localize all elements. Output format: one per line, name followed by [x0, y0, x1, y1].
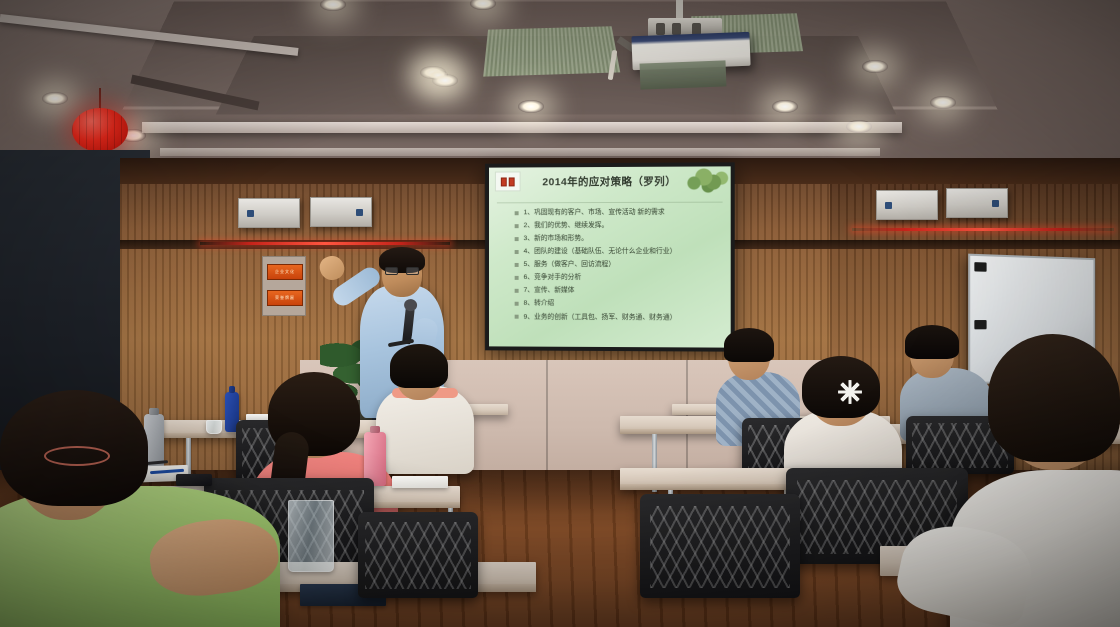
slide-header: 2014年的应对策略（罗列） — [489, 166, 731, 200]
bullet-square-icon — [515, 302, 519, 306]
slide-bullet: 9、业务的创新（工具包、扬军、财务通、财务通） — [515, 313, 721, 321]
bullet-square-icon — [515, 315, 519, 319]
mesh-office-chair[interactable] — [358, 512, 478, 598]
slide-surface: 2014年的应对策略（罗列） 1、巩固现有的客户、市场、宣传活动 新的需求 2、… — [489, 166, 731, 347]
slide-bullet-text: 7、宣传、新媒体 — [524, 287, 575, 295]
classroom-scene: 企业文化 荣誉牌匾 2014年的应对策略（罗列） 1、巩固现有的客户、市场、宣传… — [0, 0, 1120, 627]
slide-bullet: 5、服务（做客户、回访流程） — [515, 261, 721, 269]
wall-speaker-right-1 — [876, 190, 938, 220]
notebook — [392, 476, 448, 488]
whiteboard-clip — [974, 320, 986, 329]
slide-bullet-text: 3、新的市场和形势。 — [524, 235, 588, 243]
led-strip-left — [200, 242, 450, 245]
lantern-cord — [99, 88, 101, 110]
wall-speaker-right-2 — [946, 188, 1008, 218]
mobile-phone — [176, 474, 212, 486]
drinking-glass — [288, 500, 334, 572]
slide-bullet: 3、新的市场和形势。 — [515, 235, 721, 243]
slide-bullet-text: 4、团队的建设（基础队伍、无论什么企业和行业） — [524, 248, 677, 256]
slide-bullet-text: 2、我们的优势、继续发挥。 — [524, 222, 609, 230]
attendee-hair — [724, 328, 774, 362]
bullet-square-icon — [515, 289, 519, 293]
slide-bullet: 7、宣传、新媒体 — [515, 287, 721, 295]
glasses-icon — [44, 446, 110, 466]
attendee-hair — [390, 344, 448, 388]
slide-bullet-text: 8、转介绍 — [524, 300, 555, 308]
red-lantern-icon — [72, 108, 128, 152]
wall-plaque-text: 荣誉牌匾 — [268, 291, 302, 305]
ceiling-downlight — [862, 60, 888, 73]
ceiling-downlight — [518, 100, 544, 113]
wall-speaker-left-1 — [238, 198, 300, 228]
led-strip-right — [852, 228, 1114, 231]
ceiling-downlight — [846, 120, 872, 133]
attendee-hair — [905, 325, 959, 359]
slide-bullet: 8、转介绍 — [515, 300, 721, 308]
glasses-icon — [385, 267, 419, 275]
wall-speaker-left-2 — [310, 197, 372, 227]
wall-plaque-board: 企业文化 荣誉牌匾 — [262, 256, 306, 316]
bullet-square-icon — [515, 250, 519, 254]
bullet-square-icon — [515, 237, 519, 241]
slide-bullet: 2、我们的优势、继续发挥。 — [515, 222, 721, 230]
ceiling-air-vent — [483, 26, 620, 76]
ceiling-downlight — [432, 74, 458, 87]
slide-bullet-text: 1、巩固现有的客户、市场、宣传活动 新的需求 — [524, 209, 665, 217]
projection-screen[interactable]: 2014年的应对策略（罗列） 1、巩固现有的客户、市场、宣传活动 新的需求 2、… — [485, 162, 735, 351]
drinking-glass — [206, 420, 222, 434]
ceiling-downlight — [772, 100, 798, 113]
flower-hairpin-icon — [838, 380, 862, 404]
whiteboard-clip — [974, 262, 986, 272]
projector-lens — [640, 60, 727, 89]
slide-bullet-text: 9、业务的创新（工具包、扬军、财务通、财务通） — [524, 313, 677, 321]
slide-bullet-text: 5、服务（做客户、回访流程） — [524, 261, 616, 268]
slide-bullet-text: 6、竞争对手的分析 — [524, 274, 582, 282]
attendee-hair — [988, 334, 1120, 462]
wall-plaque: 荣誉牌匾 — [267, 290, 303, 306]
tree-graphic-icon — [684, 167, 728, 195]
bullet-square-icon — [515, 224, 519, 228]
ceiling-downlight — [930, 96, 956, 109]
slide-bullet: 1、巩固现有的客户、市场、宣传活动 新的需求 — [515, 209, 721, 217]
ceiling-cornice — [142, 122, 902, 133]
ceiling — [0, 0, 1120, 172]
slide-bullet: 4、团队的建设（基础队伍、无论什么企业和行业） — [515, 248, 721, 256]
ceiling-cornice-lower — [160, 148, 880, 156]
ceiling-downlight — [42, 92, 68, 105]
bullet-square-icon — [515, 211, 519, 215]
slide-bullet: 6、竞争对手的分析 — [515, 274, 721, 282]
wall-plaque-text: 企业文化 — [268, 265, 302, 279]
mesh-office-chair[interactable] — [640, 494, 800, 598]
slide-bullet-list: 1、巩固现有的客户、市场、宣传活动 新的需求 2、我们的优势、继续发挥。 3、新… — [515, 209, 721, 327]
wall-plaque: 企业文化 — [267, 264, 303, 280]
slide-divider — [497, 202, 723, 204]
bullet-square-icon — [515, 263, 519, 267]
bullet-square-icon — [515, 276, 519, 280]
